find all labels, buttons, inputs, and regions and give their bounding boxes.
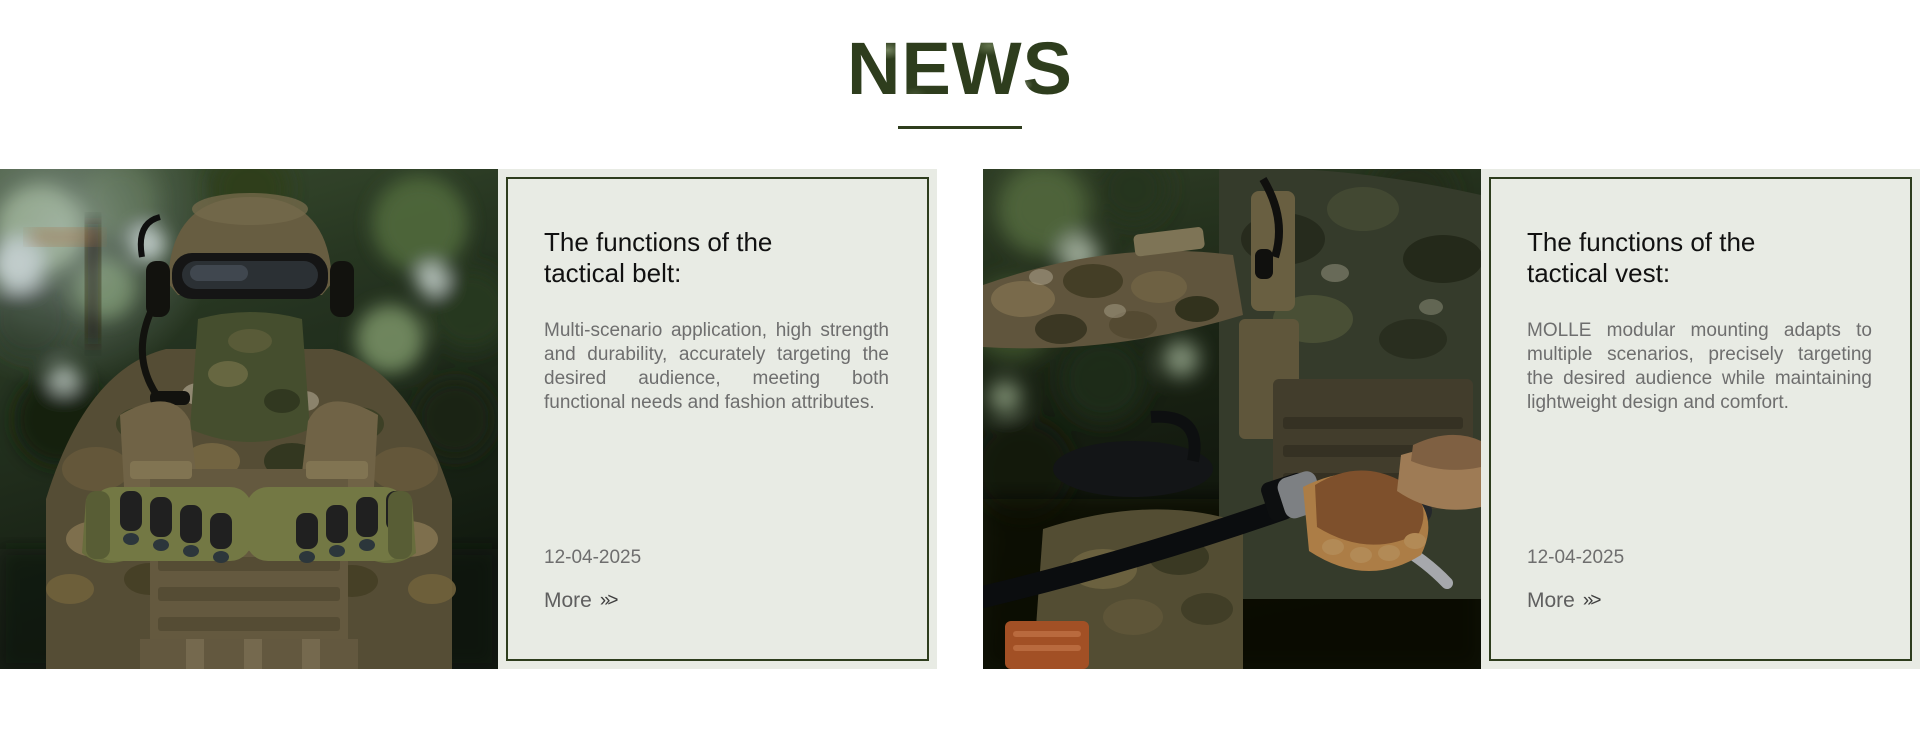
news-description: Multi-scenario application, high strengt…: [544, 319, 889, 415]
triple-chevron-right-icon: »>: [1583, 589, 1599, 613]
news-section-page: NEWS: [0, 0, 1920, 736]
soldier-motorcycle-photo: [983, 169, 1481, 669]
news-item: The functions of the tactical vest: MOLL…: [983, 169, 1920, 669]
news-card: The functions of the tactical vest: MOLL…: [1481, 169, 1920, 669]
news-date: 12-04-2025: [544, 547, 891, 569]
news-title: The functions of the tactical belt:: [544, 227, 844, 289]
news-title: The functions of the tactical vest:: [1527, 227, 1827, 289]
more-link[interactable]: More »>: [544, 589, 616, 613]
news-card-inner: The functions of the tactical belt: Mult…: [506, 177, 929, 661]
news-item: The functions of the tactical belt: Mult…: [0, 169, 937, 669]
triple-chevron-right-icon: »>: [600, 589, 616, 613]
news-card-inner: The functions of the tactical vest: MOLL…: [1489, 177, 1912, 661]
soldier-tactical-gear-photo: [0, 169, 498, 669]
page-title: NEWS: [847, 30, 1073, 108]
news-description: MOLLE modular mounting adapts to multipl…: [1527, 319, 1872, 415]
more-link-label: More: [1527, 589, 1575, 613]
section-header: NEWS: [0, 0, 1920, 129]
news-card: The functions of the tactical belt: Mult…: [498, 169, 937, 669]
more-link-label: More: [544, 589, 592, 613]
title-underline-rule: [898, 126, 1022, 129]
more-link[interactable]: More »>: [1527, 589, 1599, 613]
news-list: The functions of the tactical belt: Mult…: [0, 169, 1920, 669]
news-date: 12-04-2025: [1527, 547, 1874, 569]
